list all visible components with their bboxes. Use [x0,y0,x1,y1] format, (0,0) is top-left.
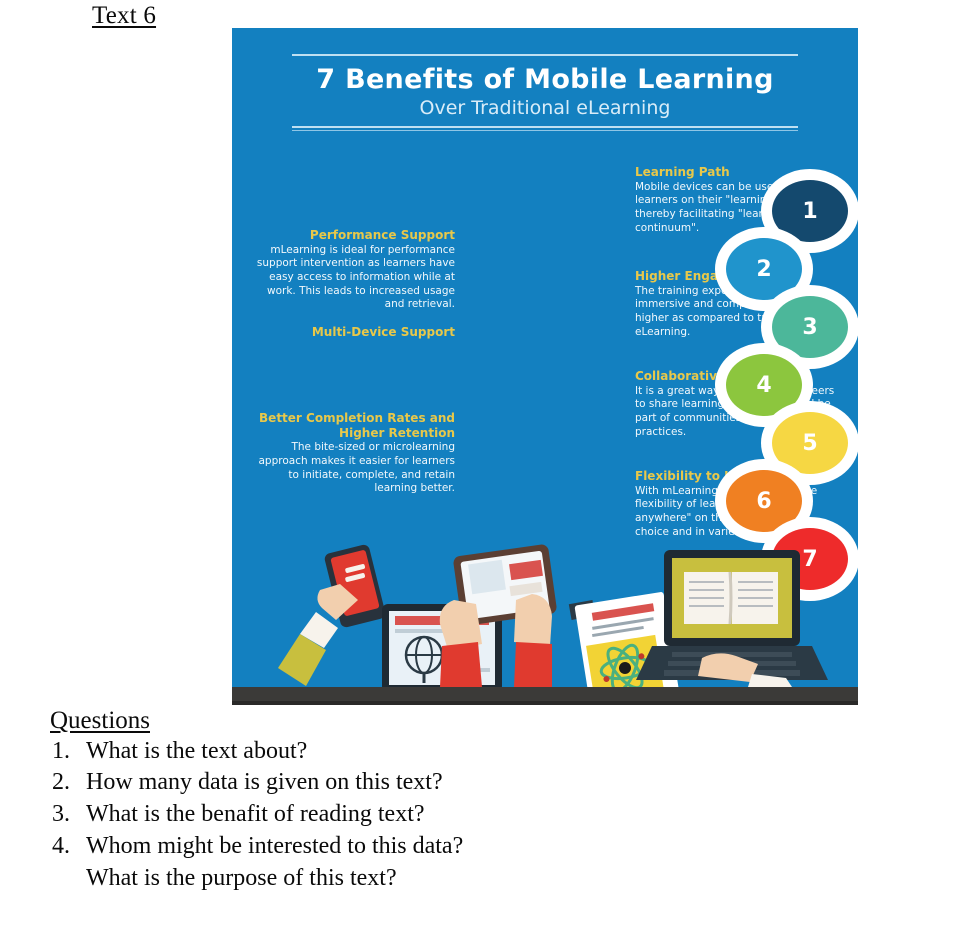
devices-illustration [232,542,858,687]
questions-section: Questions 1. What is the text about? 2. … [0,706,972,895]
step-node-5: 5 [772,412,848,474]
question-text: What is the text about? [86,736,972,768]
infographic-image: 7 Benefits of Mobile Learning Over Tradi… [232,28,858,705]
question-text: What is the benafit of reading text? [86,799,972,831]
infographic-title: 7 Benefits of Mobile Learning [292,64,798,95]
infographic-title-block: 7 Benefits of Mobile Learning Over Tradi… [292,54,798,131]
question-number: 3. [52,799,86,831]
step-number: 2 [756,257,771,282]
step-node-6: 6 [726,470,802,532]
infographic-subtitle: Over Traditional eLearning [292,97,798,119]
panel-body: mLearning is ideal for performance suppo… [250,244,455,312]
smartphone-in-hand-icon [278,544,387,686]
text-label: Text 6 [92,2,156,30]
desk-edge [232,701,858,705]
numbered-steps-chain: 1 2 3 4 5 6 7 [704,180,858,580]
step-number: 3 [802,315,817,340]
question-number: 1. [52,736,86,768]
step-node-2: 2 [726,238,802,300]
question-number: 4. [52,831,86,863]
title-rule-bottom [292,126,798,128]
question-item: 3. What is the benafit of reading text? [52,799,972,831]
question-text: Whom might be interested to this data? [86,831,972,863]
title-rule-bottom-thin [292,130,798,131]
step-number: 5 [802,431,817,456]
question-text-trailing: What is the purpose of this text? [0,863,972,895]
step-number: 4 [756,373,771,398]
panel-heading: Performance Support [250,228,455,243]
step-node-3: 3 [772,296,848,358]
panel-heading: Multi-Device Support [250,325,455,340]
questions-list: 1. What is the text about? 2. How many d… [0,736,972,864]
step-node-4: 4 [726,354,802,416]
question-item: 4. Whom might be interested to this data… [52,831,972,863]
question-item: 2. How many data is given on this text? [52,767,972,799]
questions-heading: Questions [50,706,972,736]
question-text: How many data is given on this text? [86,767,972,799]
step-node-1: 1 [772,180,848,242]
step-number: 6 [756,489,771,514]
laptop-book-icon [636,550,828,687]
question-number: 2. [52,767,86,799]
panel-heading: Better Completion Rates and Higher Reten… [250,411,455,440]
question-item: 1. What is the text about? [52,736,972,768]
panel-heading: Learning Path [635,165,840,180]
benefit-panel-completion-rates: Better Completion Rates and Higher Reten… [250,411,455,496]
benefit-panel-performance-support: Performance Support mLearning is ideal f… [250,228,455,312]
title-rule-top [292,54,798,56]
benefit-panel-multi-device-support: Multi-Device Support [250,325,455,341]
panel-body: The bite-sized or microlearning approach… [250,441,455,496]
step-number: 1 [802,199,817,224]
